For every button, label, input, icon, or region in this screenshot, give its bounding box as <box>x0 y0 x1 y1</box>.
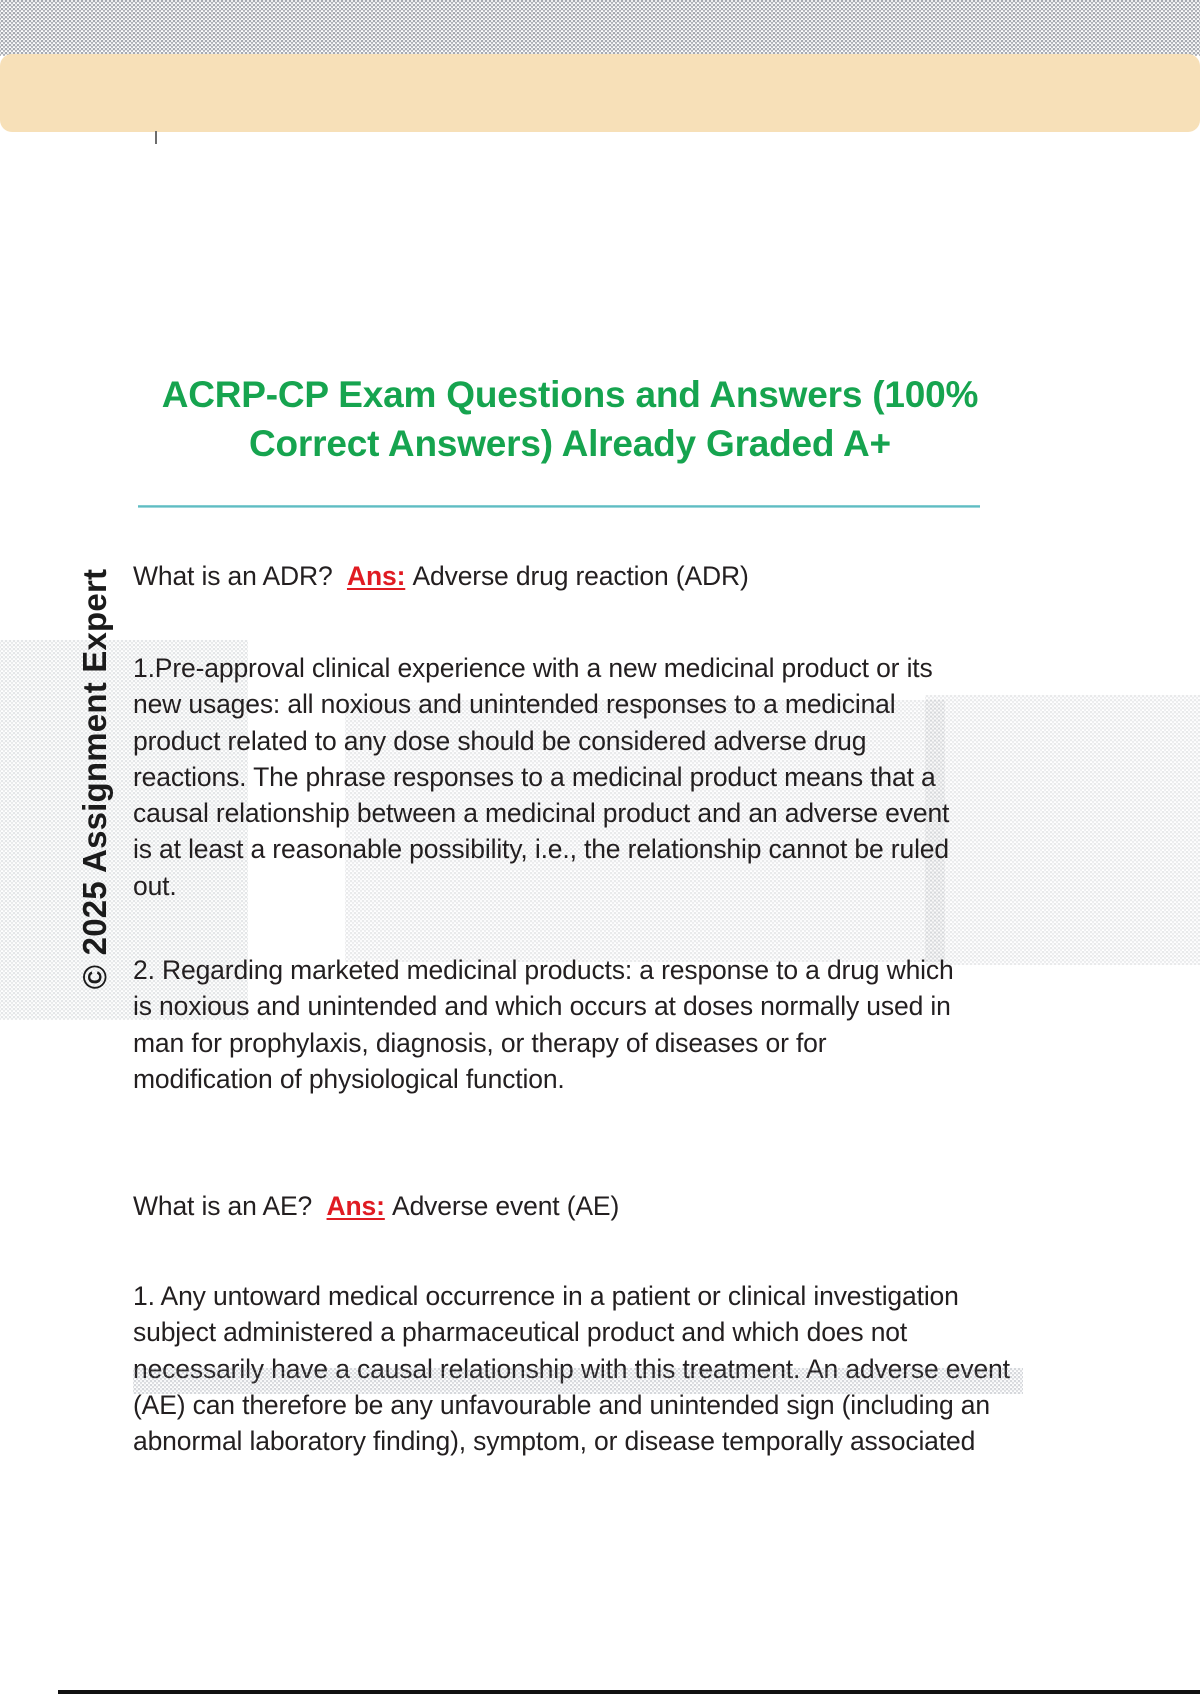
answer-label-1: Ans: <box>347 561 405 591</box>
page-title: ACRP-CP Exam Questions and Answers (100%… <box>130 370 1010 468</box>
answer-detail-2-1: 1. Any untoward medical occurrence in a … <box>133 1278 1033 1459</box>
copyright-watermark: © 2025 Assignment Expert <box>76 564 114 994</box>
document-page: ACRP-CP Exam Questions and Answers (100%… <box>0 0 1200 1700</box>
answer-text-1: Adverse drug reaction (ADR) <box>412 561 748 591</box>
question-text-1: What is an ADR? <box>133 561 333 591</box>
answer-detail-1-1: 1.Pre-approval clinical experience with … <box>133 650 971 904</box>
scan-artifact-tick <box>155 131 157 144</box>
answer-detail-1-2: 2. Regarding marketed medicinal products… <box>133 952 971 1097</box>
top-texture-strip <box>0 0 1200 56</box>
bottom-divider-rule <box>58 1690 1200 1694</box>
title-divider-rule <box>138 505 980 508</box>
qa-block-2: What is an AE? Ans: Adverse event (AE) <box>133 1188 1013 1224</box>
answer-label-2: Ans: <box>327 1191 385 1221</box>
qa-block-1: What is an ADR? Ans: Adverse drug reacti… <box>133 558 1013 594</box>
question-text-2: What is an AE? <box>133 1191 312 1221</box>
header-banner <box>0 54 1200 132</box>
answer-text-2: Adverse event (AE) <box>392 1191 619 1221</box>
